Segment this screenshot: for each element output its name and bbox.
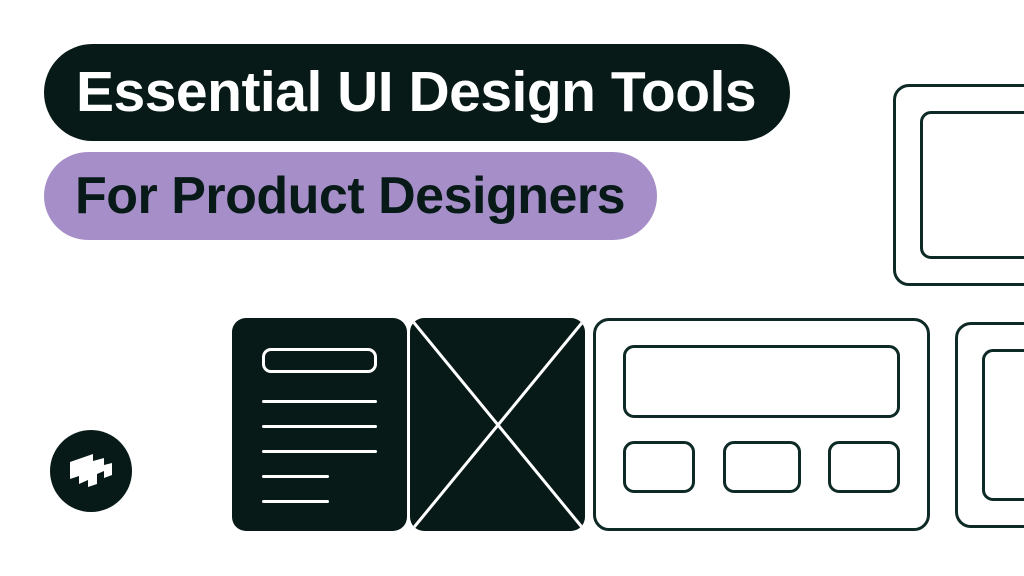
wireframe-input-field bbox=[262, 348, 377, 373]
wireframe-text-line bbox=[262, 400, 377, 403]
wireframe-text-line-short bbox=[262, 500, 329, 503]
lightning-flag-icon bbox=[67, 451, 115, 491]
wireframe-button-block bbox=[623, 441, 695, 493]
wireframe-card-image-placeholder bbox=[410, 318, 585, 531]
subtitle-pill: For Product Designers bbox=[44, 152, 657, 240]
wireframe-text-line bbox=[262, 425, 377, 428]
wireframe-text-line bbox=[262, 450, 377, 453]
wireframe-hero-block bbox=[623, 345, 900, 418]
wireframe-card-layout-blocks bbox=[593, 318, 930, 531]
wireframe-button-row bbox=[623, 441, 900, 493]
wireframe-button-block bbox=[723, 441, 801, 493]
wireframe-button-block bbox=[828, 441, 900, 493]
wireframe-inner-frame bbox=[920, 111, 1024, 259]
wireframe-card-text-block bbox=[232, 318, 407, 531]
wireframe-card-frame-top-right bbox=[893, 84, 1024, 286]
graphic-canvas: Essential UI Design Tools For Product De… bbox=[0, 0, 1024, 576]
brand-logo bbox=[50, 430, 132, 512]
page-subtitle: For Product Designers bbox=[75, 170, 625, 222]
wireframe-card-frame-bottom-right bbox=[955, 322, 1024, 528]
wireframe-text-line-short bbox=[262, 475, 329, 478]
wireframe-inner-frame bbox=[982, 349, 1024, 501]
page-title: Essential UI Design Tools bbox=[76, 64, 756, 121]
title-pill: Essential UI Design Tools bbox=[44, 44, 790, 141]
